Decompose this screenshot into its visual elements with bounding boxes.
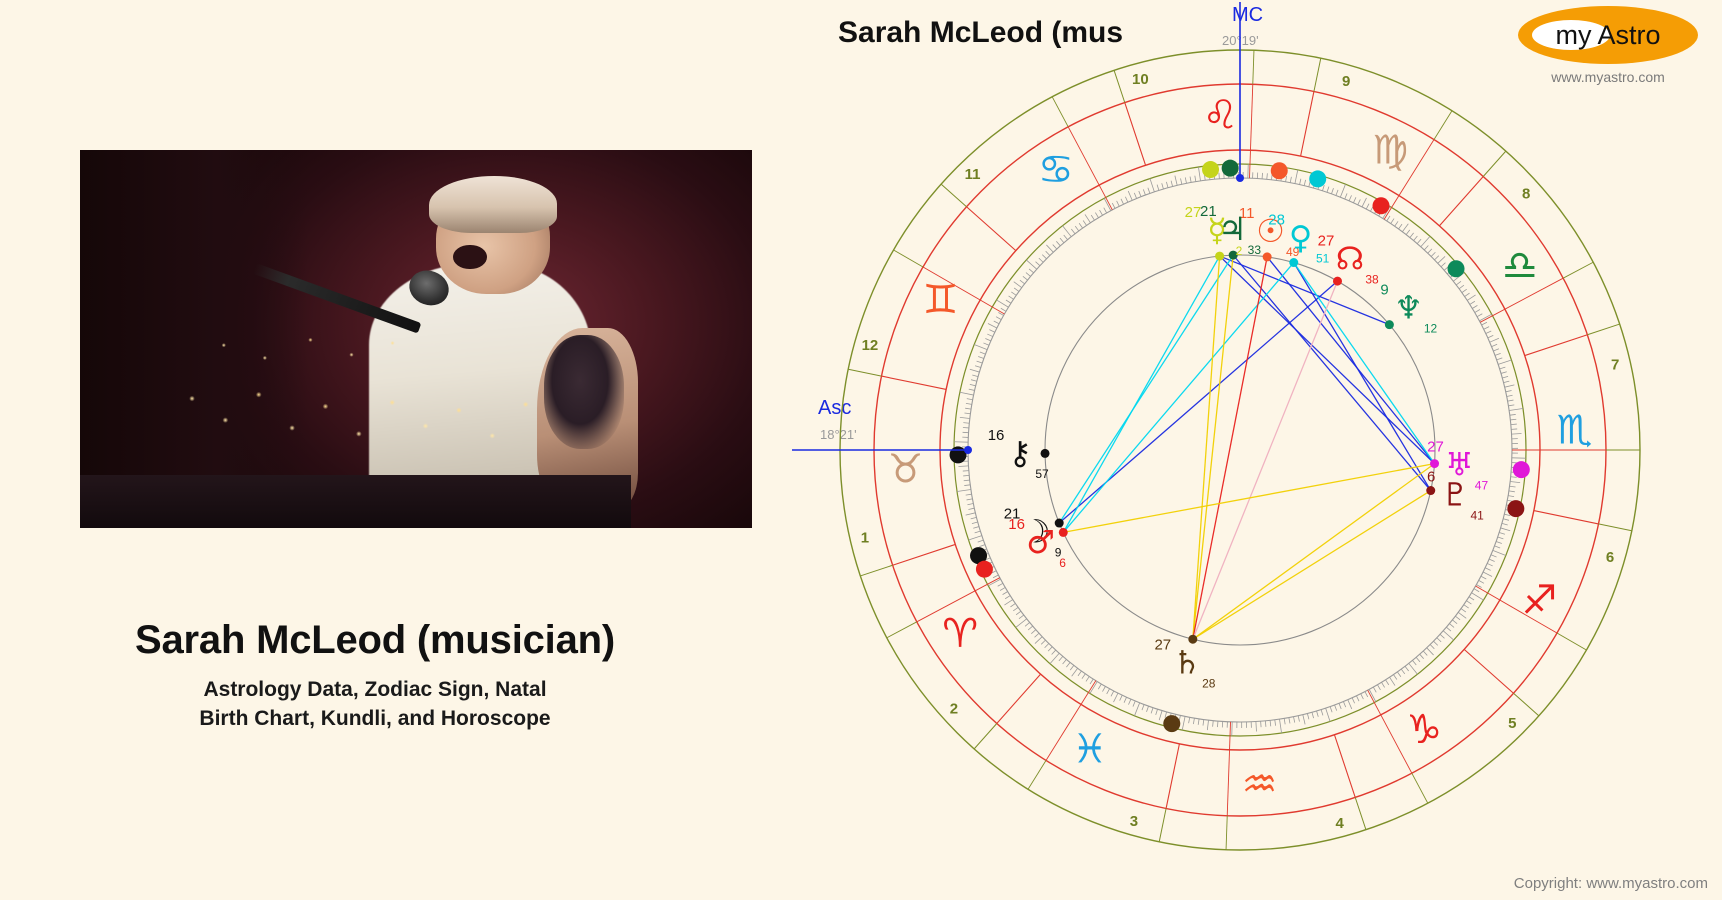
planet-dot-sun [1271, 162, 1288, 179]
planet-degree-pluto: 6 [1427, 469, 1435, 486]
planet-glyph-neptune: ♆ [1394, 289, 1423, 327]
planet-inner-dot-sun [1263, 252, 1272, 261]
house-number-10: 10 [1132, 71, 1149, 88]
planet-glyph-venus: ♀ [1289, 219, 1312, 257]
planet-inner-dot-north-node [1333, 277, 1342, 286]
planet-degree-neptune: 9 [1380, 282, 1388, 299]
aspect-line [1193, 255, 1233, 639]
aspect-line [1193, 257, 1267, 639]
aspect-line [1220, 256, 1435, 464]
planet-degree-venus: 28 [1268, 212, 1285, 229]
planet-glyph-north-node: ☊ [1336, 239, 1364, 277]
zodiac-glyph-aquarius: ♒ [1242, 761, 1278, 807]
planet-degree-chiron: 16 [988, 427, 1005, 444]
house-number-6: 6 [1606, 549, 1614, 566]
planet-inner-dot-uranus [1430, 459, 1439, 468]
planet-minute-chiron: 57 [1035, 467, 1049, 481]
zodiac-glyph-gemini: ♊ [923, 277, 959, 323]
aspect-line [1063, 256, 1219, 532]
planet-inner-dot-chiron [1041, 449, 1050, 458]
planet-dot-pluto [1507, 500, 1524, 517]
planet-degree-north-node: 27 [1318, 232, 1335, 249]
planet-degree-uranus: 27 [1427, 438, 1444, 455]
zodiac-glyph-capricorn: ♑ [1406, 707, 1442, 753]
zodiac-sign-glyphs: ♈♉♊♋♌♍♎♏♐♑♒♓ [888, 93, 1593, 808]
planet-glyph-jupiter: ♃ [1218, 210, 1247, 248]
planet-glyph-saturn: ♄ [1172, 643, 1201, 681]
planet-inner-dot-saturn [1188, 635, 1197, 644]
page-subtitle: Astrology Data, Zodiac Sign, Natal Birth… [0, 675, 750, 733]
aspect-line [1063, 464, 1434, 533]
house-number-11: 11 [965, 166, 981, 183]
planet-degree-saturn: 27 [1154, 636, 1171, 653]
planet-dot-mercury [1202, 161, 1219, 178]
house-number-3: 3 [1130, 813, 1138, 830]
page-subtitle-line-1: Astrology Data, Zodiac Sign, Natal [0, 675, 750, 704]
planet-minute-pluto: 41 [1471, 509, 1485, 523]
planet-dot-chiron [950, 446, 967, 463]
zodiac-glyph-leo: ♌ [1202, 93, 1238, 139]
planet-dot-neptune [1448, 260, 1465, 277]
planet-minute-jupiter: 33 [1248, 243, 1262, 257]
artist-photo [80, 150, 752, 528]
planet-inner-dot-moon [1055, 519, 1064, 528]
midheaven-axis-dot [1236, 174, 1244, 182]
planet-dot-north-node [1373, 197, 1390, 214]
ascendant-axis-dot [964, 446, 972, 454]
planet-minute-venus: 51 [1316, 252, 1330, 266]
zodiac-glyph-scorpio: ♏ [1556, 407, 1592, 453]
house-number-5: 5 [1508, 715, 1516, 732]
zodiac-glyph-sagittarius: ♐ [1521, 577, 1557, 623]
planet-degree-jupiter: 21 [1200, 203, 1217, 220]
ring-inner-circle [1045, 255, 1435, 645]
planet-pluto: ♇641 [1427, 469, 1484, 523]
house-number-2: 2 [950, 701, 958, 718]
planet-inner-dot-venus [1289, 258, 1298, 267]
planet-inner-dot-neptune [1385, 320, 1394, 329]
planet-glyph-mars: ♂ [1026, 523, 1055, 561]
piano-ledge [80, 475, 631, 528]
planet-inner-dot-mercury [1215, 252, 1224, 261]
planet-glyph-chiron: ⚷ [1008, 434, 1031, 472]
house-number-1: 1 [861, 530, 869, 547]
house-number-7: 7 [1611, 356, 1619, 373]
aspect-line [1059, 281, 1337, 523]
aspect-line [1063, 263, 1293, 533]
house-number-9: 9 [1342, 73, 1350, 90]
planet-degree-mars: 16 [1008, 516, 1025, 533]
zodiac-glyph-libra: ♎ [1502, 243, 1538, 289]
zodiac-glyph-taurus: ♉ [888, 447, 924, 493]
ring-sign-outer [874, 84, 1606, 816]
left-panel: Sarah McLeod (musician) Astrology Data, … [0, 0, 760, 900]
planet-inner-dot-pluto [1426, 486, 1435, 495]
astrology-page: Sarah McLeod (musician) Astrology Data, … [0, 0, 1722, 900]
planet-chiron: ⚷1657 [988, 427, 1049, 481]
planet-minute-north-node: 38 [1365, 272, 1379, 286]
house-number-8: 8 [1522, 185, 1530, 202]
page-subtitle-line-2: Birth Chart, Kundli, and Horoscope [0, 704, 750, 733]
planet-glyph-pluto: ♇ [1441, 476, 1470, 514]
fairy-lights [167, 377, 584, 475]
zodiac-glyph-cancer: ♋ [1038, 147, 1074, 193]
page-title: Sarah McLeod (musician) [0, 618, 750, 663]
aspect-line [1193, 491, 1431, 640]
planet-glyphs: ☉1149☽219☿272♀2851♂166♃2133♄2728♅2747♆91… [988, 203, 1489, 690]
planet-dot-jupiter [1222, 160, 1239, 177]
house-numbers: 123456789101112 [861, 71, 1620, 832]
planet-minute-neptune: 12 [1424, 322, 1438, 336]
fairy-lights-secondary [201, 324, 429, 377]
planet-minute-saturn: 28 [1202, 676, 1216, 690]
planet-minute-mars: 6 [1059, 556, 1066, 570]
planet-inner-dot-mars [1059, 528, 1068, 537]
planet-dot-uranus [1513, 461, 1530, 478]
aspect-line [1059, 255, 1233, 523]
singer-hair [429, 176, 557, 233]
axis-lines [792, 2, 1244, 454]
zodiac-glyph-virgo: ♍ [1372, 128, 1408, 174]
planet-dot-venus [1309, 170, 1326, 187]
copyright-notice: Copyright: www.myastro.com [1514, 875, 1708, 892]
planet-dot-mars [976, 561, 993, 578]
zodiac-glyph-aries: ♈ [942, 611, 978, 657]
singer-mouth [453, 245, 487, 270]
aspect-line [1193, 464, 1435, 640]
planet-minute-uranus: 47 [1475, 478, 1489, 492]
planet-dot-saturn [1163, 715, 1180, 732]
zodiac-glyph-pisces: ♓ [1072, 726, 1108, 772]
planet-saturn: ♄2728 [1154, 636, 1215, 690]
house-number-4: 4 [1335, 815, 1344, 832]
natal-chart-wheel: ♈♉♊♋♌♍♎♏♐♑♒♓ 123456789101112 ☉1149☽219☿2… [790, 0, 1690, 900]
planet-degree-mercury: 27 [1185, 204, 1202, 221]
house-number-12: 12 [862, 337, 879, 354]
